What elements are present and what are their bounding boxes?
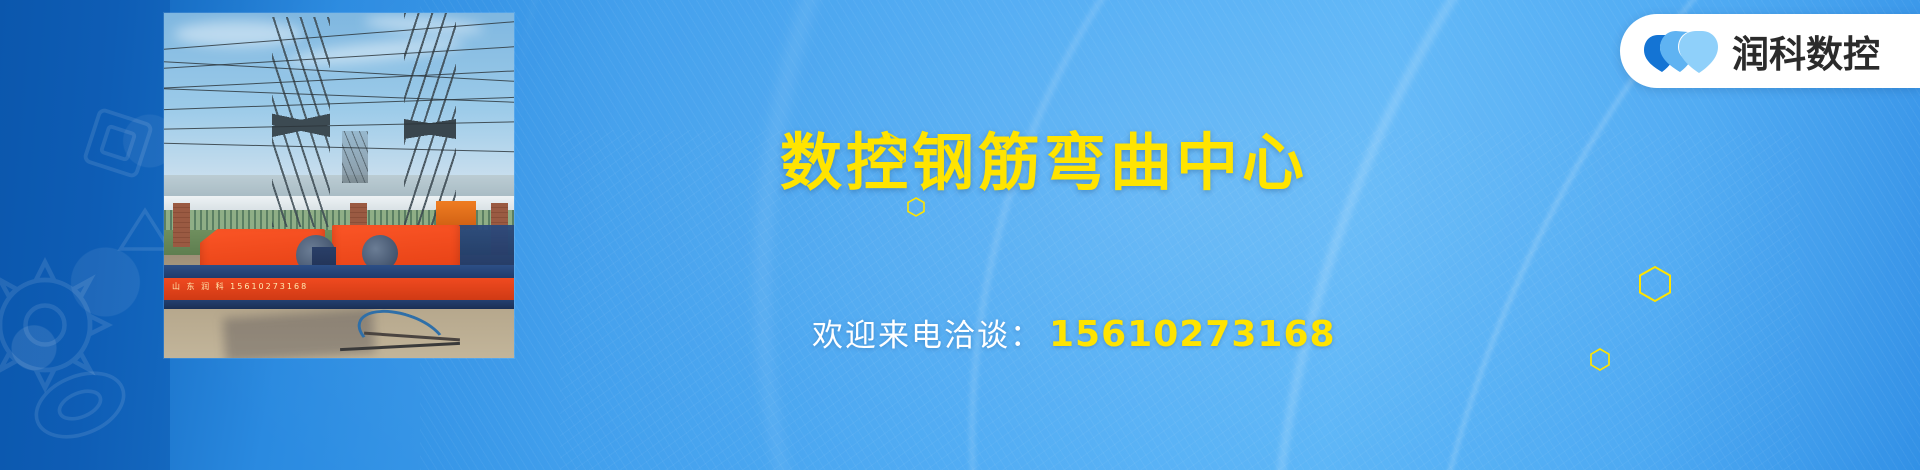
contact-line: 欢迎来电洽谈：15610273168	[812, 310, 1336, 355]
cnc-rebar-bending-machine-photo: 山 东 润 科 15610273168	[164, 13, 514, 358]
photo-brick-pillar	[173, 203, 190, 247]
brand-name: 润科数控	[1732, 24, 1880, 78]
photo-rail-text: 山 东 润 科 15610273168	[172, 281, 308, 292]
photo-lattice-tower	[272, 17, 330, 227]
phone-number[interactable]: 15610273168	[1049, 314, 1336, 355]
brand-logo[interactable]: 润科数控	[1620, 14, 1920, 88]
photo-machine-rail	[164, 265, 514, 278]
promo-banner: 山 东 润 科 15610273168 数控钢筋弯曲中心 欢迎来电洽谈：1561…	[0, 0, 1920, 470]
page-title: 数控钢筋弯曲中心	[780, 130, 1308, 195]
cloud-heart-logo-icon	[1642, 27, 1720, 75]
gear-watermark-icon	[0, 250, 120, 405]
photo-distant-pylon	[342, 131, 368, 183]
photo-machine-rail-lower	[164, 300, 514, 309]
left-accent-panel	[0, 0, 170, 470]
gear-watermark-icon	[20, 345, 140, 470]
gear-watermark-icon	[70, 95, 166, 196]
contact-label: 欢迎来电洽谈：	[812, 318, 1043, 354]
